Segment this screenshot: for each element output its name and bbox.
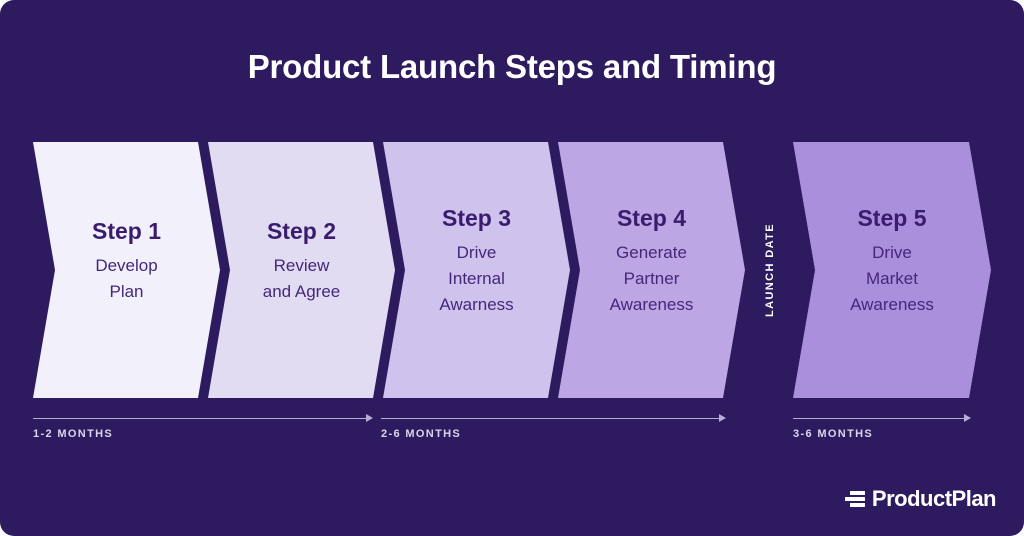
step-description-2: Review and Agree [263, 253, 341, 305]
timeline-arrow-3 [793, 412, 971, 424]
timeline-arrow-1 [33, 412, 373, 424]
productplan-wordmark: ProductPlan [872, 486, 996, 512]
timeline: 1-2 MONTHS 2-6 MONTHS 3-6 MONTHS [0, 398, 1024, 458]
timeline-line-1 [33, 418, 367, 419]
launch-date-label: LAUNCH DATE [764, 223, 776, 317]
timeline-line-3 [793, 418, 965, 419]
step-description-5: Drive Market Awareness [850, 240, 934, 317]
step-chevron-4[interactable]: Step 4 Generate Partner Awareness [558, 142, 745, 398]
step-content-5: Step 5 Drive Market Awareness [824, 206, 960, 318]
page-title: Product Launch Steps and Timing [0, 48, 1024, 86]
step-chevron-3[interactable]: Step 3 Drive Internal Awarness [383, 142, 570, 398]
launch-date-divider: LAUNCH DATE [757, 142, 783, 398]
step-description-3: Drive Internal Awarness [439, 240, 513, 317]
step-label-1: Step 1 [92, 219, 161, 244]
arrow-head-icon [964, 414, 971, 422]
step-content-3: Step 3 Drive Internal Awarness [413, 206, 539, 318]
step-description-4: Generate Partner Awareness [610, 240, 694, 317]
timeline-arrow-2 [381, 412, 726, 424]
timeline-line-2 [381, 418, 720, 419]
step-label-5: Step 5 [857, 206, 926, 231]
step-content-2: Step 2 Review and Agree [237, 219, 367, 305]
timeline-label-1: 1-2 MONTHS [33, 428, 113, 440]
chevron-band: Step 1 Develop Plan Step 2 Review and Ag… [0, 142, 1024, 398]
step-label-4: Step 4 [617, 206, 686, 231]
step-label-2: Step 2 [267, 219, 336, 244]
step-description-1: Develop Plan [95, 253, 157, 305]
step-chevron-2[interactable]: Step 2 Review and Agree [208, 142, 395, 398]
step-content-4: Step 4 Generate Partner Awareness [584, 206, 720, 318]
productplan-logo[interactable]: ProductPlan [845, 486, 996, 512]
productplan-bars-icon [845, 490, 865, 508]
arrow-head-icon [719, 414, 726, 422]
timeline-label-3: 3-6 MONTHS [793, 428, 873, 440]
step-chevron-1[interactable]: Step 1 Develop Plan [33, 142, 220, 398]
timeline-label-2: 2-6 MONTHS [381, 428, 461, 440]
step-content-1: Step 1 Develop Plan [66, 219, 187, 305]
arrow-head-icon [366, 414, 373, 422]
step-label-3: Step 3 [442, 206, 511, 231]
step-chevron-5[interactable]: Step 5 Drive Market Awareness [793, 142, 991, 398]
infographic-canvas: Product Launch Steps and Timing Step 1 D… [0, 0, 1024, 536]
